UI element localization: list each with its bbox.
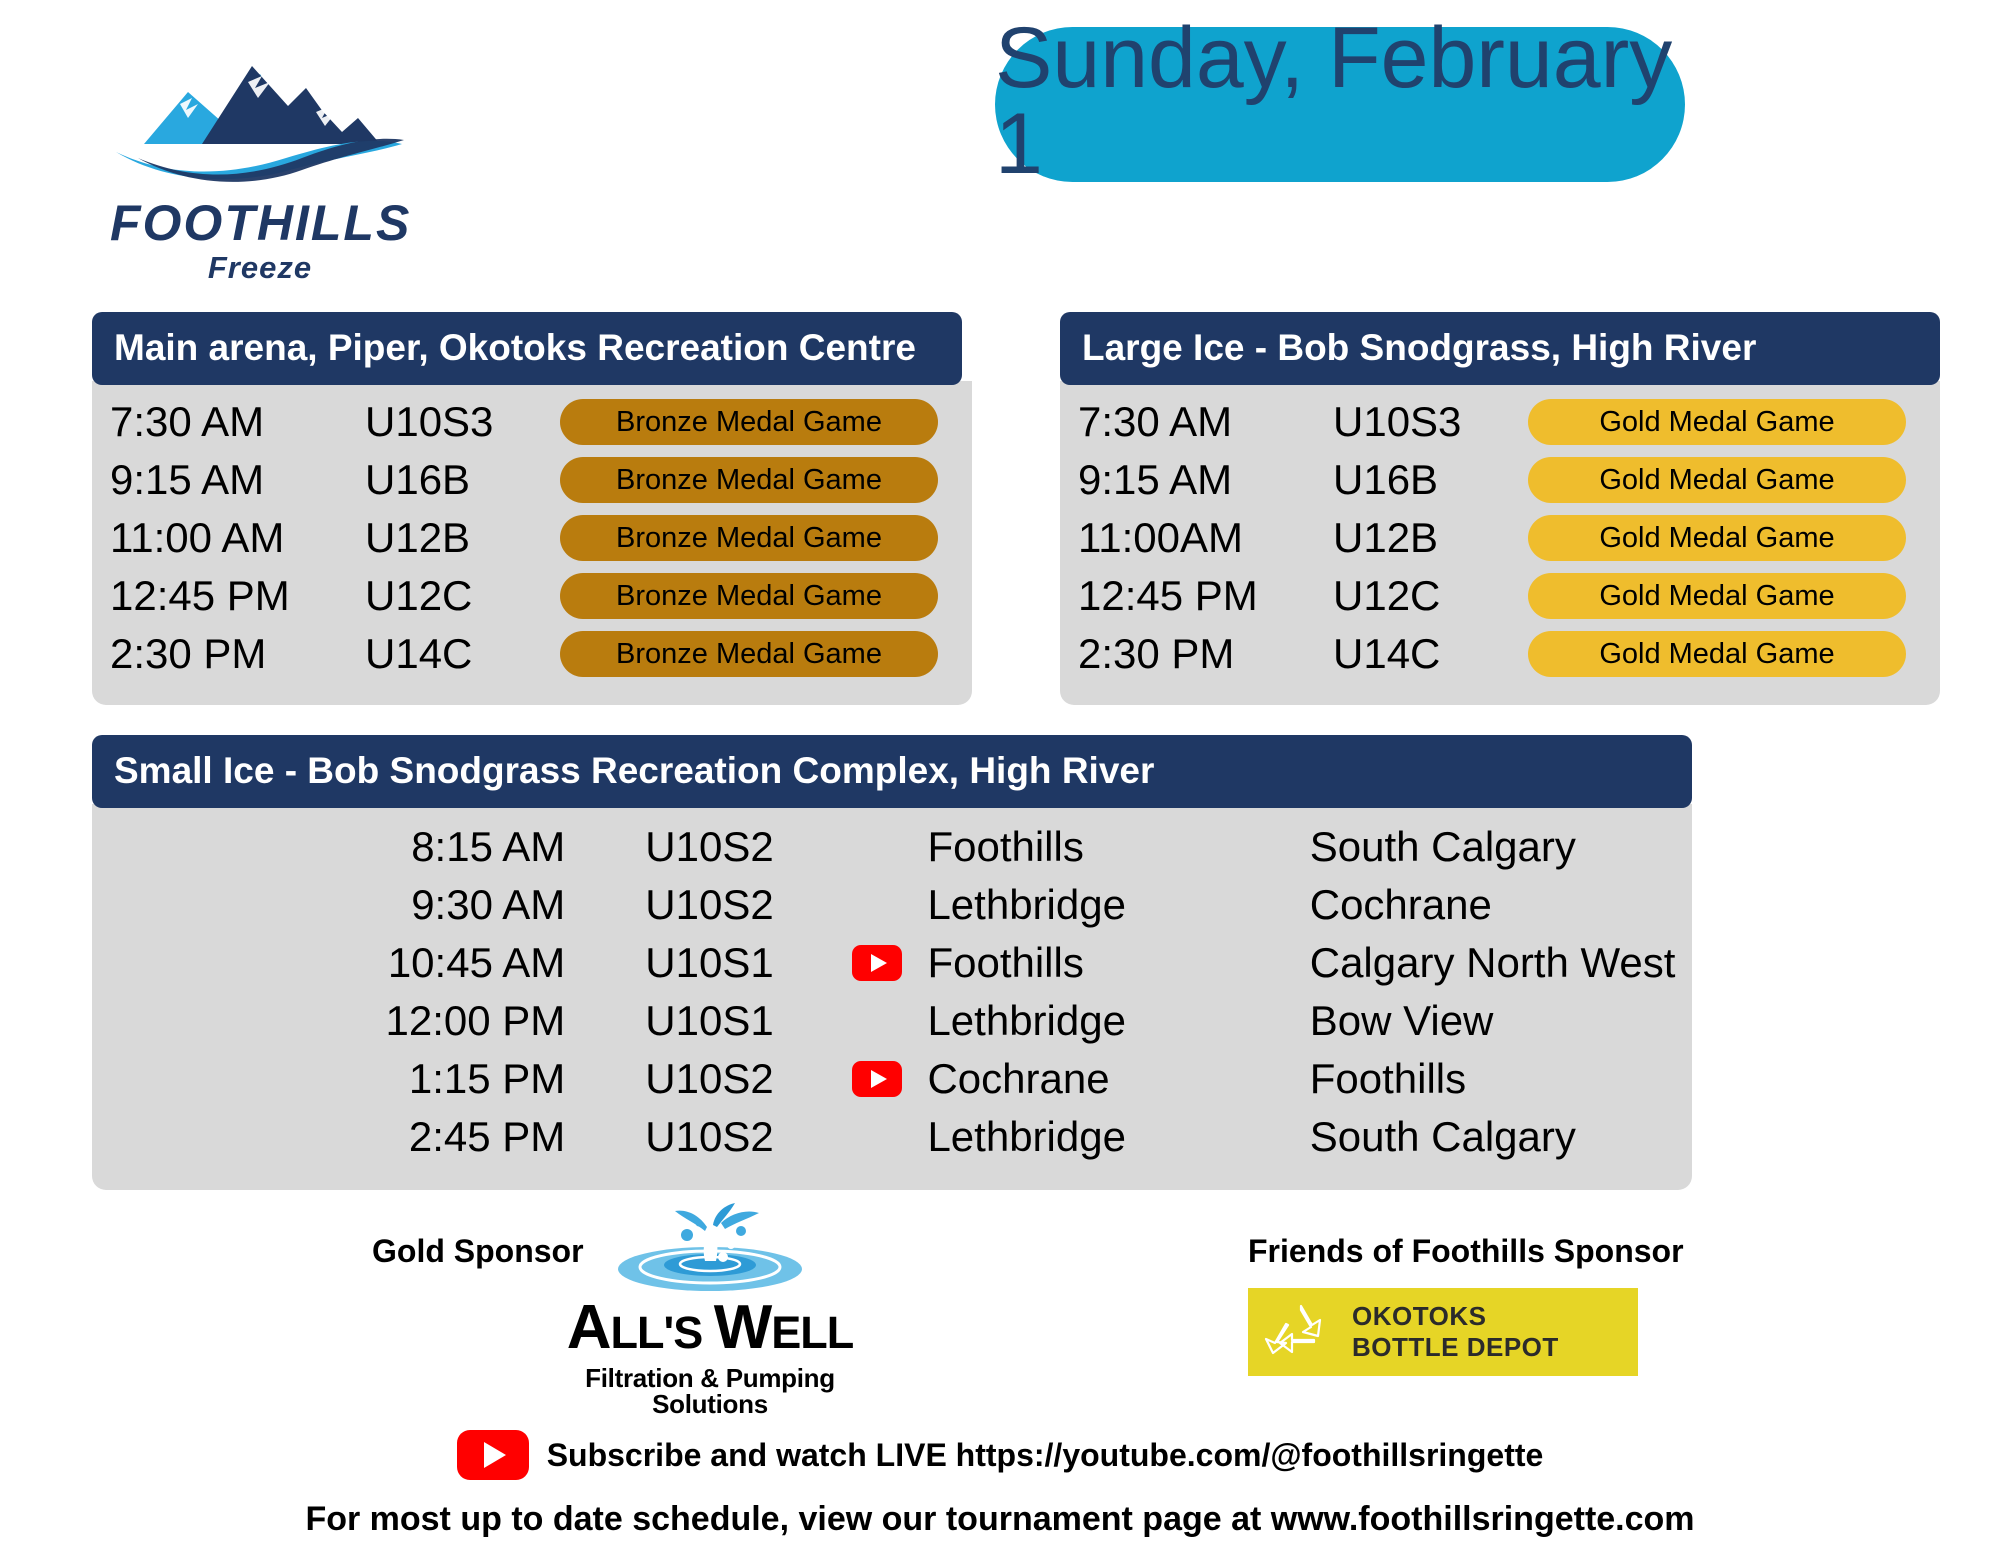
game-time: 10:45 AM — [92, 942, 565, 984]
game-time: 9:30 AM — [92, 884, 565, 926]
home-team: Lethbridge — [927, 1116, 1309, 1158]
mountain-wave-logo-icon — [110, 40, 410, 200]
game-division: U14C — [1333, 633, 1528, 675]
game-row: 9:15 AMU16BGold Medal Game — [1060, 451, 1940, 509]
game-time: 2:30 PM — [1060, 633, 1333, 675]
game-division: U14C — [365, 633, 560, 675]
aw-a: A — [567, 1293, 611, 1362]
game-time: 12:45 PM — [92, 575, 365, 617]
youtube-icon[interactable] — [852, 945, 902, 981]
venue-panel-small-ice: Small Ice - Bob Snodgrass Recreation Com… — [92, 735, 1692, 1190]
foothills-freeze-logo: FOOTHILLS Freeze — [110, 40, 430, 270]
game-row: 11:00AMU12BGold Medal Game — [1060, 509, 1940, 567]
play-triangle-icon — [484, 1442, 506, 1468]
game-division: U10S2 — [565, 884, 827, 926]
game-division: U10S3 — [1333, 401, 1528, 443]
game-division: U10S1 — [565, 1000, 827, 1042]
game-time: 12:45 PM — [1060, 575, 1333, 617]
game-row: 7:30 AMU10S3Gold Medal Game — [1060, 393, 1940, 451]
medal-game-badge: Gold Medal Game — [1528, 573, 1906, 619]
away-team: Foothills — [1310, 1058, 1692, 1100]
logo-subtitle: Freeze — [110, 252, 410, 283]
venue-panel-large-ice: Large Ice - Bob Snodgrass, High River 7:… — [1060, 312, 1940, 705]
top-panels: Main arena, Piper, Okotoks Recreation Ce… — [0, 312, 2000, 712]
game-division: U16B — [1333, 459, 1528, 501]
medal-game-badge: Gold Medal Game — [1528, 515, 1906, 561]
venue-panel-main-arena: Main arena, Piper, Okotoks Recreation Ce… — [92, 312, 972, 705]
away-team: Calgary North West — [1310, 942, 1692, 984]
panel-body: 8:15 AMU10S2FoothillsSouth Calgary9:30 A… — [92, 804, 1692, 1190]
water-splash-icon — [595, 1195, 825, 1295]
home-team: Foothills — [927, 942, 1309, 984]
game-division: U12C — [365, 575, 560, 617]
game-division: U12B — [365, 517, 560, 559]
medal-game-badge: Bronze Medal Game — [560, 515, 938, 561]
game-row: 2:30 PMU14CBronze Medal Game — [92, 625, 972, 683]
home-team: Cochrane — [927, 1058, 1309, 1100]
youtube-icon[interactable] — [457, 1430, 529, 1480]
panel-title: Main arena, Piper, Okotoks Recreation Ce… — [92, 312, 962, 385]
date-label: Sunday, February 1 — [995, 15, 1685, 195]
home-team: Lethbridge — [927, 1000, 1309, 1042]
game-division: U16B — [365, 459, 560, 501]
game-row: 8:15 AMU10S2FoothillsSouth Calgary — [92, 818, 1692, 876]
game-division: U10S2 — [565, 1116, 827, 1158]
play-triangle-icon — [871, 1070, 887, 1088]
panel-title: Small Ice - Bob Snodgrass Recreation Com… — [92, 735, 1692, 808]
away-team: South Calgary — [1310, 826, 1692, 868]
schedule-text[interactable]: For most up to date schedule, view our t… — [0, 1502, 2000, 1536]
medal-game-badge: Bronze Medal Game — [560, 573, 938, 619]
alls-well-logo: ALL'S WELL Filtration & Pumping Solution… — [545, 1195, 875, 1417]
logo-wordmark: FOOTHILLS — [110, 198, 410, 248]
game-time: 9:15 AM — [1060, 459, 1333, 501]
away-team: Cochrane — [1310, 884, 1692, 926]
page-header: FOOTHILLS Freeze Sunday, February 1 — [0, 0, 2000, 300]
livestream-cell[interactable] — [827, 945, 927, 981]
aw-w: W — [714, 1293, 772, 1362]
okotoks-bottle-depot-logo: OKOTOKS BOTTLE DEPOT — [1248, 1288, 1638, 1376]
game-row: 9:15 AMU16BBronze Medal Game — [92, 451, 972, 509]
home-team: Foothills — [927, 826, 1309, 868]
home-team: Lethbridge — [927, 884, 1309, 926]
game-row: 12:45 PMU12CGold Medal Game — [1060, 567, 1940, 625]
away-team: Bow View — [1310, 1000, 1692, 1042]
game-division: U12B — [1333, 517, 1528, 559]
game-division: U10S1 — [565, 942, 827, 984]
panel-body: 7:30 AMU10S3Gold Medal Game9:15 AMU16BGo… — [1060, 381, 1940, 705]
panel-title: Large Ice - Bob Snodgrass, High River — [1060, 312, 1940, 385]
game-row: 12:45 PMU12CBronze Medal Game — [92, 567, 972, 625]
aw-ell: ELL — [771, 1307, 853, 1358]
subscribe-text[interactable]: Subscribe and watch LIVE https://youtube… — [547, 1439, 1544, 1471]
recycle-icon — [1262, 1296, 1340, 1368]
away-team: South Calgary — [1310, 1116, 1692, 1158]
game-time: 2:45 PM — [92, 1116, 565, 1158]
game-row: 11:00 AMU12BBronze Medal Game — [92, 509, 972, 567]
game-time: 2:30 PM — [92, 633, 365, 675]
panel-body: 7:30 AMU10S3Bronze Medal Game9:15 AMU16B… — [92, 381, 972, 705]
medal-game-badge: Bronze Medal Game — [560, 399, 938, 445]
game-row: 9:30 AMU10S2LethbridgeCochrane — [92, 876, 1692, 934]
sponsors-section: Gold Sponsor ALL'S WELL Filtration & Pum… — [0, 1195, 2000, 1425]
medal-game-badge: Bronze Medal Game — [560, 457, 938, 503]
game-division: U10S2 — [565, 1058, 827, 1100]
game-time: 1:15 PM — [92, 1058, 565, 1100]
game-time: 7:30 AM — [92, 401, 365, 443]
game-time: 9:15 AM — [92, 459, 365, 501]
medal-game-badge: Gold Medal Game — [1528, 631, 1906, 677]
medal-game-badge: Gold Medal Game — [1528, 457, 1906, 503]
bd-line1: OKOTOKS — [1352, 1301, 1559, 1332]
date-banner: Sunday, February 1 — [995, 27, 1685, 182]
game-row: 7:30 AMU10S3Bronze Medal Game — [92, 393, 972, 451]
play-triangle-icon — [871, 954, 887, 972]
livestream-cell[interactable] — [827, 1061, 927, 1097]
bd-line2: BOTTLE DEPOT — [1352, 1332, 1559, 1363]
game-row: 1:15 PMU10S2CochraneFoothills — [92, 1050, 1692, 1108]
game-time: 7:30 AM — [1060, 401, 1333, 443]
page-footer: Subscribe and watch LIVE https://youtube… — [0, 1430, 2000, 1536]
game-division: U12C — [1333, 575, 1528, 617]
alls-well-tagline: Filtration & Pumping Solutions — [545, 1365, 875, 1417]
game-time: 8:15 AM — [92, 826, 565, 868]
game-row: 2:45 PMU10S2LethbridgeSouth Calgary — [92, 1108, 1692, 1166]
game-division: U10S2 — [565, 826, 827, 868]
friends-sponsor-label: Friends of Foothills Sponsor — [1248, 1235, 1684, 1267]
game-row: 10:45 AMU10S1FoothillsCalgary North West — [92, 934, 1692, 992]
game-row: 12:00 PMU10S1LethbridgeBow View — [92, 992, 1692, 1050]
youtube-icon[interactable] — [852, 1061, 902, 1097]
game-division: U10S3 — [365, 401, 560, 443]
alls-well-wordmark: ALL'S WELL — [545, 1297, 875, 1359]
game-time: 11:00AM — [1060, 517, 1333, 559]
medal-game-badge: Bronze Medal Game — [560, 631, 938, 677]
game-row: 2:30 PMU14CGold Medal Game — [1060, 625, 1940, 683]
subscribe-line: Subscribe and watch LIVE https://youtube… — [0, 1430, 2000, 1480]
aw-lls: LL'S — [611, 1307, 714, 1358]
medal-game-badge: Gold Medal Game — [1528, 399, 1906, 445]
game-time: 11:00 AM — [92, 517, 365, 559]
bottle-depot-wordmark: OKOTOKS BOTTLE DEPOT — [1352, 1301, 1559, 1362]
game-time: 12:00 PM — [92, 1000, 565, 1042]
